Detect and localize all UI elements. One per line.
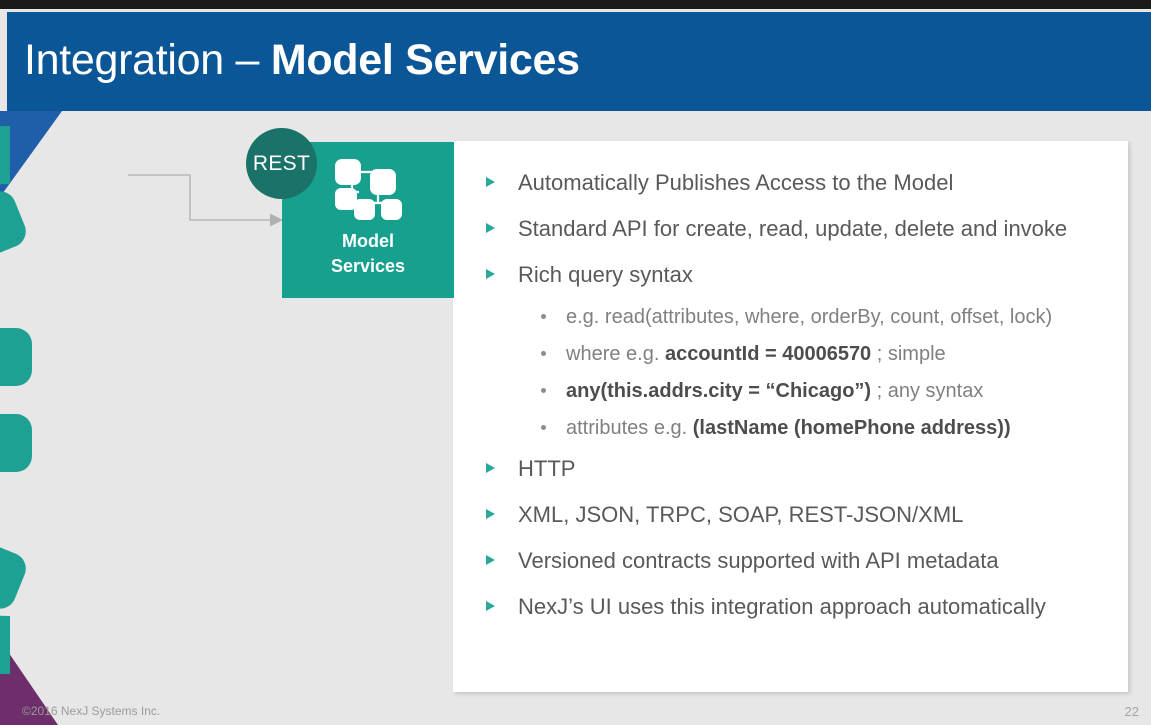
model-services-label-line2: Services — [282, 254, 454, 279]
sub-bullet-dot-icon — [541, 351, 546, 356]
sub-bullet-dot-icon — [541, 314, 546, 319]
network-topology-icon — [332, 158, 404, 220]
rest-badge[interactable]: REST — [246, 128, 317, 199]
bullet-text: HTTP — [518, 454, 575, 484]
bullet-item: HTTP — [453, 446, 1128, 492]
page-title-regular: Integration – — [24, 36, 271, 84]
top-chrome-bar — [0, 0, 1151, 9]
sub-bullet-dot-icon — [541, 425, 546, 430]
bullet-triangle-icon — [486, 463, 495, 473]
slide: Integration – Model Services Integration — [0, 0, 1151, 725]
rest-badge-label: REST — [253, 152, 310, 176]
bullet-triangle-icon — [486, 177, 495, 187]
copyright-text: ©2016 NexJ Systems Inc. — [22, 704, 160, 718]
bullet-item: Standard API for create, read, update, d… — [453, 206, 1128, 252]
bullet-triangle-icon — [486, 601, 495, 611]
model-services-label-line1: Model — [282, 229, 454, 254]
bullet-item: XML, JSON, TRPC, SOAP, REST-JSON/XML — [453, 492, 1128, 538]
bullet-triangle-icon — [486, 555, 495, 565]
integration-arc-graphic: Integration — [0, 100, 244, 700]
arc-svg — [0, 100, 244, 700]
sub-bullet-item: any(this.addrs.city = “Chicago”) ; any s… — [453, 372, 1128, 409]
content-card: Automatically Publishes Access to the Mo… — [453, 141, 1128, 692]
page-title-bold: Model Services — [271, 36, 580, 84]
model-services-label: Model Services — [282, 229, 454, 279]
network-topology-svg — [332, 158, 404, 220]
bullet-triangle-icon — [486, 269, 495, 279]
bullet-item: Automatically Publishes Access to the Mo… — [453, 160, 1128, 206]
bullet-text: XML, JSON, TRPC, SOAP, REST-JSON/XML — [518, 500, 963, 530]
sub-bullet-text: where e.g. accountId = 40006570 ; simple — [566, 340, 946, 368]
sub-bullet-item: where e.g. accountId = 40006570 ; simple — [453, 335, 1128, 372]
bullet-item: Rich query syntax — [453, 252, 1128, 298]
bullet-text: Standard API for create, read, update, d… — [518, 214, 1067, 244]
sub-bullet-text: any(this.addrs.city = “Chicago”) ; any s… — [566, 377, 983, 405]
bullet-text: NexJ’s UI uses this integration approach… — [518, 592, 1046, 622]
bullet-triangle-icon — [486, 223, 495, 233]
bullet-text: Versioned contracts supported with API m… — [518, 546, 999, 576]
bullet-item: Versioned contracts supported with API m… — [453, 538, 1128, 584]
page-number: 22 — [1125, 704, 1139, 719]
sub-bullet-item: e.g. read(attributes, where, orderBy, co… — [453, 298, 1128, 335]
bullet-text: Automatically Publishes Access to the Mo… — [518, 168, 953, 198]
bullet-item: NexJ’s UI uses this integration approach… — [453, 584, 1128, 630]
bullet-triangle-icon — [486, 509, 495, 519]
page-title: Integration – Model Services — [24, 29, 580, 91]
sub-bullet-text: e.g. read(attributes, where, orderBy, co… — [566, 303, 1052, 331]
bullet-text: Rich query syntax — [518, 260, 693, 290]
sub-bullet-dot-icon — [541, 388, 546, 393]
slide-header: Integration – Model Services — [7, 12, 1151, 111]
sub-bullet-text: attributes e.g. (lastName (homePhone add… — [566, 414, 1011, 442]
sub-bullet-item: attributes e.g. (lastName (homePhone add… — [453, 409, 1128, 446]
bullet-list: Automatically Publishes Access to the Mo… — [453, 160, 1128, 630]
